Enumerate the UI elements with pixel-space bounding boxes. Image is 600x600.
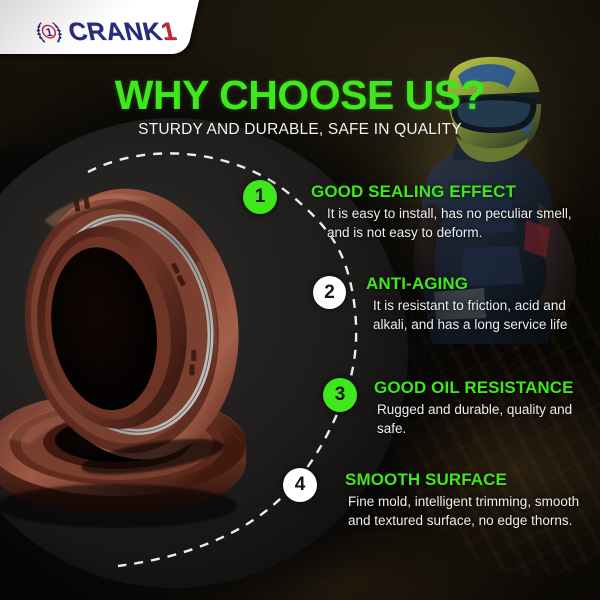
brand-name-main: CRANK xyxy=(66,18,165,46)
step-badge-4[interactable]: 4 xyxy=(283,468,317,502)
laurel-wreath-one-icon: 1 xyxy=(31,17,68,47)
feature-item-2: ANTI-AGING It is resistant to friction, … xyxy=(366,274,596,334)
svg-text:1: 1 xyxy=(45,27,55,39)
feature-title-4: SMOOTH SURFACE xyxy=(345,470,597,490)
page-title: WHY CHOOSE US? xyxy=(0,72,600,119)
feature-title-1: GOOD SEALING EFFECT xyxy=(311,182,576,202)
feature-body-3: Rugged and durable, quality and safe. xyxy=(374,401,596,438)
step-badge-1[interactable]: 1 xyxy=(243,180,277,214)
page-subtitle: STURDY AND DURABLE, SAFE IN QUALITY xyxy=(0,121,600,139)
logo-lockup[interactable]: 1 CRANK1 xyxy=(0,0,215,64)
feature-title-3: GOOD OIL RESISTANCE xyxy=(374,378,596,398)
step-badge-2[interactable]: 2 xyxy=(313,276,346,309)
step-badge-3[interactable]: 3 xyxy=(323,378,357,412)
feature-body-4: Fine mold, intelligent trimming, smooth … xyxy=(345,493,597,530)
feature-item-3: GOOD OIL RESISTANCE Rugged and durable, … xyxy=(374,378,596,438)
oil-seal-product-image xyxy=(0,176,284,536)
promo-graphic: 1 CRANK1 WHY CHOOSE US? STURDY AND DURAB… xyxy=(0,0,600,600)
feature-item-4: SMOOTH SURFACE Fine mold, intelligent tr… xyxy=(345,470,597,530)
feature-body-1: It is easy to install, has no peculiar s… xyxy=(311,205,576,242)
feature-item-1: GOOD SEALING EFFECT It is easy to instal… xyxy=(311,182,576,242)
brand-wordmark: CRANK1 xyxy=(66,20,179,45)
feature-title-2: ANTI-AGING xyxy=(366,274,596,294)
feature-body-2: It is resistant to friction, acid and al… xyxy=(366,297,596,334)
